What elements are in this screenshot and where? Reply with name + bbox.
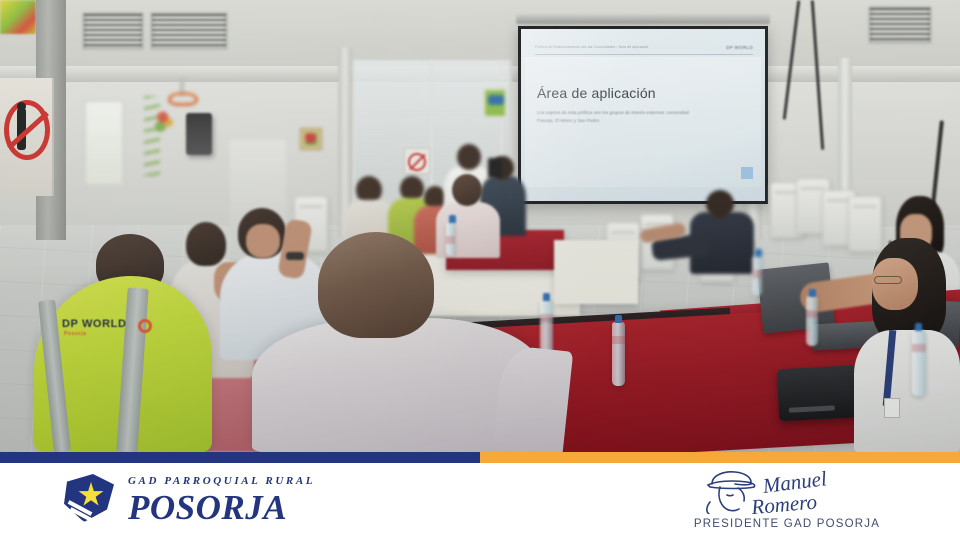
basketball-hoop-icon	[168, 92, 198, 106]
side-table	[554, 240, 638, 304]
dp-world-oval-icon	[138, 319, 152, 333]
framed-artwork	[300, 128, 322, 150]
screenshot-root: Política de Relacionamiento con las Comu…	[0, 0, 960, 540]
president-caption: PRESIDENTE GAD POSORJA	[694, 518, 880, 530]
smartphone	[488, 158, 502, 178]
air-vent-icon	[82, 12, 144, 50]
slide-kicker-text: Política de Relacionamiento con las Comu…	[535, 45, 649, 49]
slide-corner-mark	[741, 167, 753, 179]
slide-title: Área de aplicación	[537, 85, 656, 101]
signature-line2: Romero	[750, 488, 830, 520]
flower-arrangement	[154, 108, 176, 134]
brand-text-block: GAD PARROQUIAL RURAL POSORJA	[128, 476, 315, 525]
shield-star-logo-icon	[62, 472, 118, 528]
presenter-head	[457, 144, 481, 170]
projection-screen: Política de Relacionamiento con las Comu…	[518, 26, 768, 204]
meeting-photo: Política de Relacionamiento con las Comu…	[0, 0, 960, 452]
person-face	[246, 224, 280, 258]
slide-body-text: Los sujetos de esta política son los gru…	[537, 109, 697, 126]
eyeglasses	[874, 276, 902, 284]
footer-banner: GAD PARROQUIAL RURAL POSORJA M	[0, 452, 960, 540]
brand-kicker: GAD PARROQUIAL RURAL	[128, 476, 315, 487]
footer-bar-blue	[0, 452, 480, 463]
water-bottle	[612, 322, 625, 386]
person-head	[186, 222, 226, 266]
presentation-slide: Política de Relacionamiento con las Comu…	[525, 57, 761, 187]
slide-header: Política de Relacionamiento con las Comu…	[535, 41, 753, 53]
id-badge	[884, 398, 900, 418]
president-signature-block: Manuel Romero PRESIDENTE GAD POSORJA	[672, 468, 902, 530]
window	[84, 100, 124, 186]
dp-world-logo: DP WORLD	[726, 45, 753, 50]
person-face	[872, 258, 918, 310]
stacked-chair	[848, 196, 882, 252]
signature-wrap: Manuel Romero	[682, 468, 892, 514]
wristwatch	[286, 252, 304, 260]
foreground-person-head	[318, 232, 434, 338]
framed-artwork	[483, 88, 507, 118]
water-bottle	[806, 296, 818, 346]
signature-script: Manuel Romero	[761, 466, 830, 519]
no-smoking-sign	[404, 148, 430, 174]
vest-brand-text: DP WORLD	[62, 318, 126, 330]
person-body	[854, 330, 960, 452]
wall-poster	[0, 0, 36, 34]
footer-bar-orange	[480, 452, 960, 463]
vest-sub-text: Posorja	[64, 331, 87, 337]
person-head	[452, 174, 482, 206]
no-entry-sign	[0, 78, 54, 196]
gad-posorja-brand: GAD PARROQUIAL RURAL POSORJA	[62, 472, 315, 528]
water-bottle	[446, 222, 455, 256]
brand-name: POSORJA	[128, 490, 315, 525]
water-bottle	[752, 256, 762, 296]
slide-divider	[535, 54, 753, 55]
projector-screen-case	[516, 14, 770, 24]
person-head	[706, 190, 734, 218]
wall-speaker	[186, 113, 212, 155]
vest-brand-logo: DP WORLD Posorja	[62, 318, 146, 342]
water-bottle	[912, 330, 926, 396]
air-vent-icon	[150, 12, 228, 50]
air-vent-icon	[868, 6, 932, 44]
